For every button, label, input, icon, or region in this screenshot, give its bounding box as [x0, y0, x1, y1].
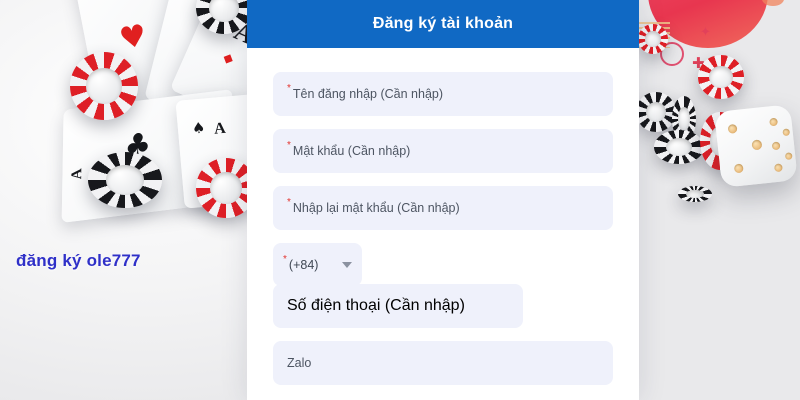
zalo-placeholder: Zalo	[287, 356, 311, 370]
card-rank-a: A	[206, 30, 218, 45]
poker-chip-red	[638, 24, 668, 54]
username-placeholder: Tên đăng nhập (Cần nhập)	[293, 87, 443, 101]
page-title: Đăng ký tài khoản	[373, 15, 513, 33]
poker-chip-black	[672, 96, 696, 142]
pink-blob	[648, 0, 768, 48]
required-marker: *	[287, 198, 291, 208]
zalo-field[interactable]: Zalo	[273, 341, 613, 385]
heart-suit-icon: ♥	[197, 9, 208, 21]
ring-decoration	[660, 42, 684, 66]
poker-chip-black	[678, 186, 712, 202]
card-rank-a: A	[213, 121, 226, 138]
required-marker: *	[287, 84, 291, 94]
phone-number-placeholder: Số điện thoại (Cần nhập)	[287, 297, 465, 315]
plus-icon: ✚	[686, 190, 697, 203]
poker-chip-black	[636, 92, 676, 132]
chevron-down-icon[interactable]	[342, 262, 352, 268]
page-root: ♥ A ♥ ▽ A ◆ ♣ A ♠ A ◆ ✦ ✚	[0, 0, 800, 400]
plus-icon: ✚	[692, 56, 705, 71]
poker-chip-red	[70, 52, 138, 120]
stripes-decoration	[636, 22, 670, 48]
poker-chip-black	[654, 130, 704, 164]
heart-suit-icon: ♥	[117, 21, 149, 56]
playing-card-hearts: ♥	[70, 0, 205, 113]
phone-number-field[interactable]: Số điện thoại (Cần nhập)	[273, 284, 523, 328]
club-suit-icon: ♣	[124, 129, 151, 163]
confirm-password-placeholder: Nhập lại mật khẩu (Cần nhập)	[293, 201, 460, 215]
orange-dot	[762, 0, 784, 6]
poker-chip-red	[700, 112, 740, 170]
phone-row: * (+84) Số điện thoại (Cần nhập)	[273, 243, 613, 328]
password-field[interactable]: * Mật khẩu (Cần nhập)	[273, 129, 613, 173]
panel-header: Đăng ký tài khoản	[247, 0, 639, 48]
triangle-icon: ▽	[206, 63, 218, 77]
poker-chip-black	[196, 0, 252, 34]
country-code-value: (+84)	[289, 258, 319, 272]
required-marker: *	[287, 141, 291, 151]
dice	[714, 104, 798, 188]
country-code-select[interactable]: * (+84)	[273, 243, 362, 286]
teal-blob	[128, 0, 244, 77]
spade-suit-icon: ♠	[191, 121, 206, 137]
registration-panel: Đăng ký tài khoản * Tên đăng nhập (Cần n…	[247, 0, 639, 400]
username-field[interactable]: * Tên đăng nhập (Cần nhập)	[273, 72, 613, 116]
registration-form: * Tên đăng nhập (Cần nhập) * Mật khẩu (C…	[247, 48, 639, 385]
password-placeholder: Mật khẩu (Cần nhập)	[293, 144, 410, 158]
sparkle-icon: ✦	[700, 26, 711, 39]
confirm-password-field[interactable]: * Nhập lại mật khẩu (Cần nhập)	[273, 186, 613, 230]
poker-chip-red	[698, 55, 744, 99]
poker-chip-black	[88, 152, 162, 208]
playing-card-ace-clubs: ♣ A	[62, 89, 233, 223]
card-rank-a: A	[70, 168, 85, 181]
diamond-suit-icon: ◆	[221, 51, 235, 67]
required-marker: *	[283, 255, 287, 265]
page-caption: đăng ký ole777	[16, 251, 141, 271]
